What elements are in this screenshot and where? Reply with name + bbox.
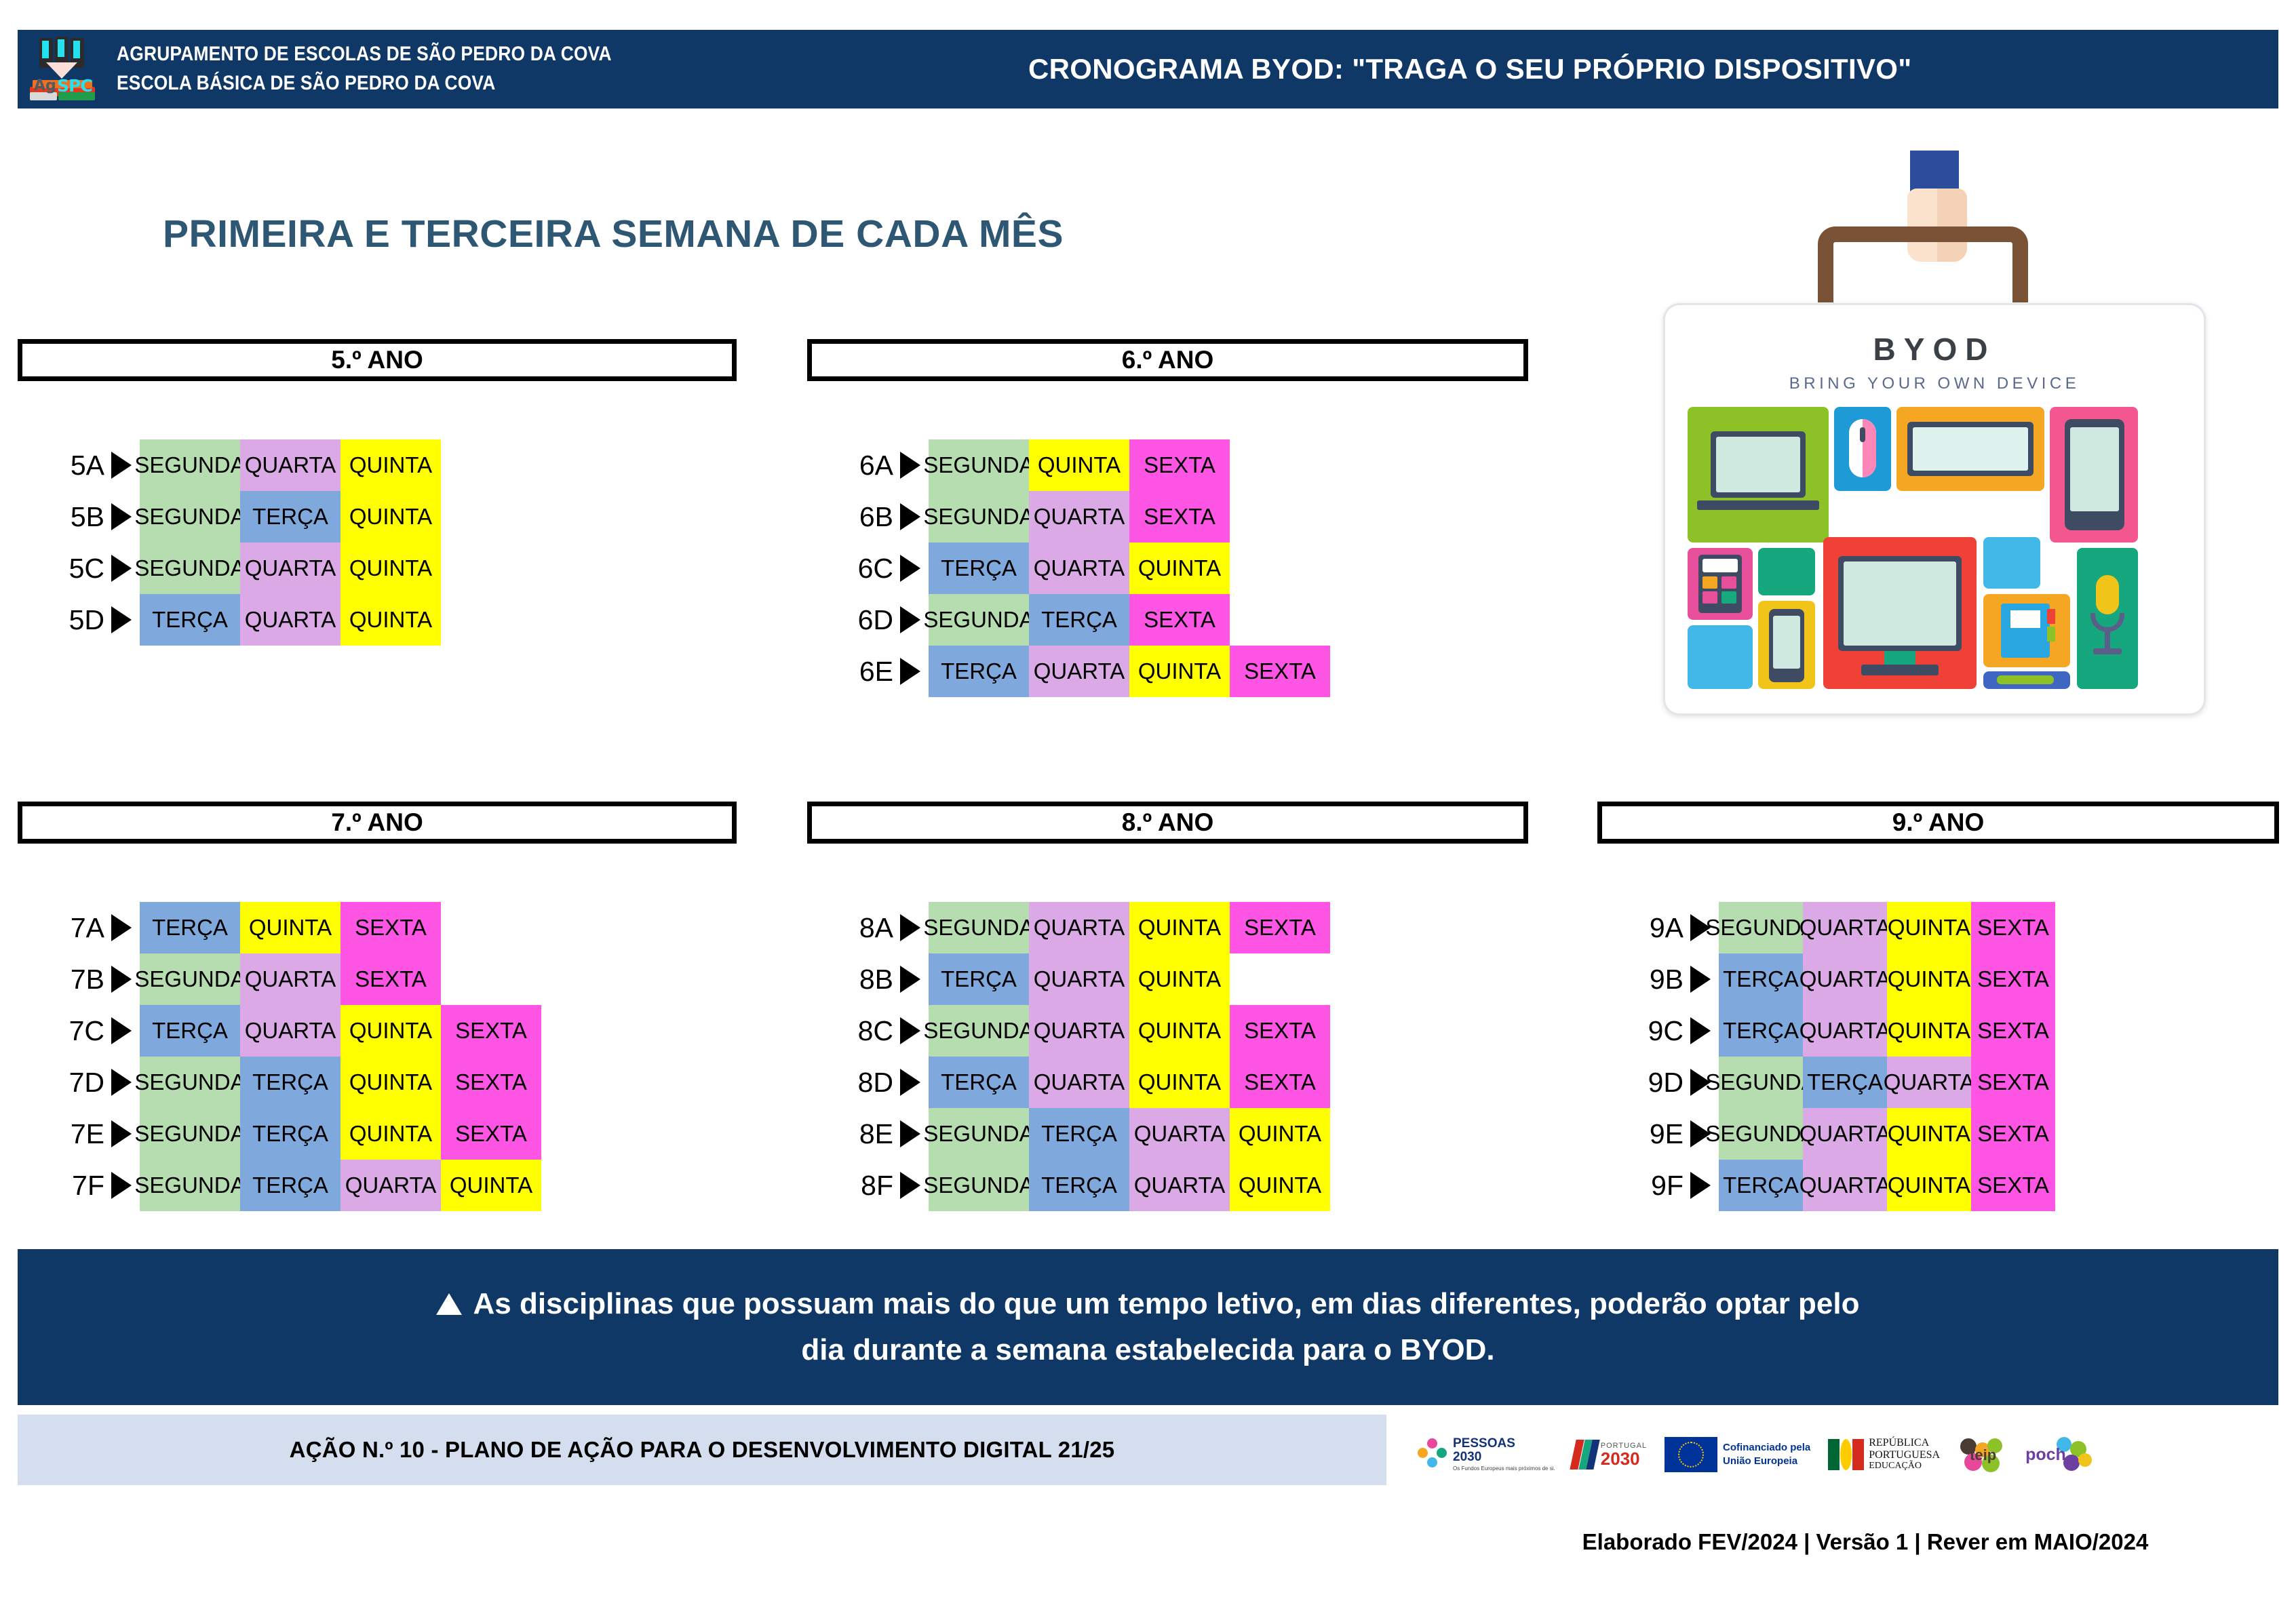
teal-accent-tile bbox=[1758, 548, 1815, 595]
right-triangle-icon bbox=[900, 966, 920, 993]
right-triangle-icon bbox=[900, 1172, 920, 1199]
notebook-tile bbox=[1983, 594, 2070, 667]
day-cells: TERÇAQUARTAQUINTA bbox=[929, 953, 1330, 1005]
microphone-tile bbox=[2077, 548, 2138, 689]
table-row: 8FSEGUNDATERÇAQUARTAQUINTA bbox=[823, 1160, 1330, 1211]
day-cell-sexta: SEXTA bbox=[1971, 1057, 2055, 1108]
day-cell-terca: TERÇA bbox=[1029, 1108, 1129, 1160]
version-line: Elaborado FEV/2024 | Versão 1 | Rever em… bbox=[1452, 1529, 2279, 1555]
day-cells: SEGUNDATERÇAQUINTASEXTA bbox=[140, 1108, 541, 1160]
funding-logos: PESSOAS 2030 Os Fundos Europeus mais pró… bbox=[1418, 1419, 2279, 1490]
day-cells: SEGUNDAQUINTASEXTA bbox=[929, 439, 1230, 491]
class-label: 7C bbox=[34, 1015, 107, 1047]
day-cell-sexta: SEXTA bbox=[340, 953, 441, 1005]
day-cell-terca: TERÇA bbox=[1719, 953, 1803, 1005]
day-cell-quarta: QUARTA bbox=[1029, 491, 1129, 543]
class-label: 7D bbox=[34, 1067, 107, 1099]
school-name: ESCOLA BÁSICA DE SÃO PEDRO DA COVA bbox=[117, 69, 612, 98]
day-cell-terca: TERÇA bbox=[240, 1057, 340, 1108]
right-triangle-icon bbox=[111, 1017, 132, 1044]
day-cell-quarta: QUARTA bbox=[1029, 902, 1129, 953]
day-cells: TERÇAQUARTAQUINTASEXTA bbox=[929, 1057, 1330, 1108]
table-row: 8BTERÇAQUARTAQUINTA bbox=[823, 953, 1330, 1005]
day-cell-segunda: SEGUNDA bbox=[929, 1160, 1029, 1211]
sleeve-shape bbox=[1910, 151, 1959, 193]
logo-teip: teip bbox=[1958, 1429, 2006, 1480]
logo-line-2: 2030 bbox=[1453, 1451, 1555, 1464]
right-triangle-icon bbox=[111, 606, 132, 633]
day-cell-sexta: SEXTA bbox=[1971, 902, 2055, 953]
byod-illustration: BYOD BRING YOUR OWN DEVICE bbox=[1636, 151, 2233, 717]
up-triangle-icon bbox=[436, 1293, 462, 1315]
day-cells: SEGUNDAQUARTASEXTA bbox=[140, 953, 441, 1005]
day-cell-sexta: SEXTA bbox=[441, 1005, 541, 1057]
right-triangle-icon bbox=[1690, 966, 1711, 993]
day-cell-sexta: SEXTA bbox=[441, 1057, 541, 1108]
class-label: 8B bbox=[823, 964, 896, 995]
day-cell-quarta: QUARTA bbox=[1803, 1005, 1887, 1057]
day-cell-segunda: SEGUNDA bbox=[1719, 1057, 1803, 1108]
schedule-table-9ano: 9ASEGUNDAQUARTAQUINTASEXTA9BTERÇAQUARTAQ… bbox=[1613, 902, 2055, 1211]
day-cells: TERÇAQUARTAQUINTASEXTA bbox=[1719, 953, 2055, 1005]
briefcase-handle-icon bbox=[1818, 226, 2028, 302]
table-row: 7BSEGUNDAQUARTASEXTA bbox=[34, 953, 541, 1005]
blue-accent-tile bbox=[1688, 625, 1753, 689]
day-cell-terca: TERÇA bbox=[140, 902, 240, 953]
note-line-2: dia durante a semana estabelecida para o… bbox=[801, 1327, 1494, 1373]
class-label: 6D bbox=[823, 604, 896, 636]
day-cells: TERÇAQUARTAQUINTASEXTA bbox=[1719, 1005, 2055, 1057]
day-cell-quarta: QUARTA bbox=[240, 439, 340, 491]
day-cells: TERÇAQUARTAQUINTASEXTA bbox=[140, 1005, 541, 1057]
byod-subtitle: BRING YOUR OWN DEVICE bbox=[1789, 374, 2080, 393]
right-triangle-icon bbox=[1690, 1172, 1711, 1199]
day-cell-segunda: SEGUNDA bbox=[929, 594, 1029, 646]
byod-title: BYOD bbox=[1873, 331, 1996, 368]
schedule-table-7ano: 7ATERÇAQUINTASEXTA7BSEGUNDAQUARTASEXTA7C… bbox=[34, 902, 541, 1211]
device-icon-grid bbox=[1684, 404, 2185, 689]
table-row: 9FTERÇAQUARTAQUINTASEXTA bbox=[1613, 1160, 2055, 1211]
day-cell-segunda: SEGUNDA bbox=[929, 1108, 1029, 1160]
day-cell-segunda: SEGUNDA bbox=[140, 491, 240, 543]
day-cell-segunda: SEGUNDA bbox=[1719, 1108, 1803, 1160]
day-cell-quinta: QUINTA bbox=[1129, 1005, 1230, 1057]
heading-label: 5.º ANO bbox=[331, 346, 423, 374]
day-cell-terca: TERÇA bbox=[140, 594, 240, 646]
day-cells: SEGUNDAQUARTAQUINTA bbox=[140, 439, 441, 491]
class-label: 9F bbox=[1613, 1170, 1686, 1202]
table-row: 9ESEGUNDAQUARTAQUINTASEXTA bbox=[1613, 1108, 2055, 1160]
day-cell-terca: TERÇA bbox=[240, 1160, 340, 1211]
school-names: AGRUPAMENTO DE ESCOLAS DE SÃO PEDRO DA C… bbox=[117, 40, 679, 98]
day-cell-segunda: SEGUNDA bbox=[140, 1057, 240, 1108]
day-cell-quinta: QUINTA bbox=[1887, 953, 1971, 1005]
logo-line-1: PESSOAS bbox=[1453, 1437, 1555, 1451]
day-cell-quarta: QUARTA bbox=[340, 1160, 441, 1211]
day-cell-quarta: QUARTA bbox=[1029, 543, 1129, 594]
day-cell-terca: TERÇA bbox=[1803, 1057, 1887, 1108]
day-cell-quarta: QUARTA bbox=[1129, 1160, 1230, 1211]
table-row: 7DSEGUNDATERÇAQUINTASEXTA bbox=[34, 1057, 541, 1108]
right-triangle-icon bbox=[1690, 1017, 1711, 1044]
day-cell-sexta: SEXTA bbox=[1230, 1057, 1330, 1108]
day-cells: TERÇAQUARTAQUINTA bbox=[140, 594, 441, 646]
right-triangle-icon bbox=[111, 503, 132, 530]
day-cell-terca: TERÇA bbox=[240, 1108, 340, 1160]
table-row: 8ESEGUNDATERÇAQUARTAQUINTA bbox=[823, 1108, 1330, 1160]
day-cell-sexta: SEXTA bbox=[1129, 491, 1230, 543]
right-triangle-icon bbox=[111, 1069, 132, 1096]
day-cell-quinta: QUINTA bbox=[340, 594, 441, 646]
day-cell-quinta: QUINTA bbox=[340, 439, 441, 491]
logo-republica-portuguesa-educacao: REPÚBLICA PORTUGUESA EDUCAÇÃO bbox=[1828, 1429, 1940, 1480]
right-triangle-icon bbox=[900, 1069, 920, 1096]
heading-label: 9.º ANO bbox=[1892, 808, 1985, 837]
logo-line-3: EDUCAÇÃO bbox=[1869, 1461, 1940, 1471]
mouse-tile bbox=[1834, 407, 1891, 491]
class-label: 6E bbox=[823, 656, 896, 688]
right-triangle-icon bbox=[900, 1017, 920, 1044]
heading-label: 7.º ANO bbox=[331, 808, 423, 837]
right-triangle-icon bbox=[900, 914, 920, 941]
right-triangle-icon bbox=[111, 1120, 132, 1147]
day-cell-quinta: QUINTA bbox=[1129, 646, 1230, 697]
heading-label: 6.º ANO bbox=[1122, 346, 1214, 374]
class-label: 7A bbox=[34, 912, 107, 944]
day-cells: SEGUNDATERÇAQUARTAQUINTA bbox=[929, 1108, 1330, 1160]
table-row: 7CTERÇAQUARTAQUINTASEXTA bbox=[34, 1005, 541, 1057]
page-title: PRIMEIRA E TERCEIRA SEMANA DE CADA MÊS bbox=[163, 212, 1064, 256]
table-row: 6DSEGUNDATERÇASEXTA bbox=[823, 594, 1330, 646]
day-cell-quinta: QUINTA bbox=[1230, 1160, 1330, 1211]
day-cell-quinta: QUINTA bbox=[1887, 902, 1971, 953]
day-cell-terca: TERÇA bbox=[929, 953, 1029, 1005]
section-heading-6ano: 6.º ANO bbox=[807, 339, 1528, 381]
action-bar: AÇÃO N.º 10 - PLANO DE AÇÃO PARA O DESEN… bbox=[18, 1415, 1386, 1485]
day-cells: TERÇAQUARTAQUINTASEXTA bbox=[929, 646, 1330, 697]
logo-caption: Os Fundos Europeus mais próximos de si. bbox=[1453, 1465, 1555, 1472]
table-row: 8DTERÇAQUARTAQUINTASEXTA bbox=[823, 1057, 1330, 1108]
day-cells: SEGUNDAQUARTASEXTA bbox=[929, 491, 1230, 543]
class-label: 7B bbox=[34, 964, 107, 995]
logo-line-2: PORTUGUESA bbox=[1869, 1449, 1940, 1461]
school-group-name: AGRUPAMENTO DE ESCOLAS DE SÃO PEDRO DA C… bbox=[117, 40, 612, 69]
right-triangle-icon bbox=[900, 555, 920, 582]
right-triangle-icon bbox=[111, 452, 132, 479]
table-row: 7ESEGUNDATERÇAQUINTASEXTA bbox=[34, 1108, 541, 1160]
day-cell-sexta: SEXTA bbox=[1971, 1160, 2055, 1211]
day-cell-segunda: SEGUNDA bbox=[929, 1005, 1029, 1057]
day-cell-quarta: QUARTA bbox=[1803, 1160, 1887, 1211]
day-cell-terca: TERÇA bbox=[240, 491, 340, 543]
table-row: 7ATERÇAQUINTASEXTA bbox=[34, 902, 541, 953]
day-cell-sexta: SEXTA bbox=[340, 902, 441, 953]
note-banner: As disciplinas que possuam mais do que u… bbox=[18, 1249, 2278, 1405]
day-cell-quinta: QUINTA bbox=[1129, 1057, 1230, 1108]
day-cell-sexta: SEXTA bbox=[1230, 1005, 1330, 1057]
table-row: 5ASEGUNDAQUARTAQUINTA bbox=[34, 439, 441, 491]
day-cell-terca: TERÇA bbox=[1029, 1160, 1129, 1211]
day-cell-quinta: QUINTA bbox=[1230, 1108, 1330, 1160]
section-heading-7ano: 7.º ANO bbox=[18, 802, 737, 844]
day-cell-segunda: SEGUNDA bbox=[140, 953, 240, 1005]
logo-poch: poch bbox=[2024, 1429, 2095, 1480]
table-row: 8ASEGUNDAQUARTAQUINTASEXTA bbox=[823, 902, 1330, 953]
day-cells: SEGUNDAQUARTAQUINTASEXTA bbox=[1719, 902, 2055, 953]
day-cell-terca: TERÇA bbox=[140, 1005, 240, 1057]
day-cells: TERÇAQUARTAQUINTA bbox=[929, 543, 1230, 594]
class-label: 8D bbox=[823, 1067, 896, 1099]
day-cell-quinta: QUINTA bbox=[240, 902, 340, 953]
logo-line-1: Cofinanciado pela bbox=[1723, 1442, 1810, 1453]
table-row: 9ASEGUNDAQUARTAQUINTASEXTA bbox=[1613, 902, 2055, 953]
laptop-tile bbox=[1688, 407, 1829, 543]
header-title: CRONOGRAMA BYOD: "TRAGA O SEU PRÓPRIO DI… bbox=[1028, 53, 1911, 85]
day-cell-quinta: QUINTA bbox=[441, 1160, 541, 1211]
day-cell-segunda: SEGUNDA bbox=[140, 1160, 240, 1211]
day-cells: SEGUNDAQUARTAQUINTASEXTA bbox=[1719, 1108, 2055, 1160]
right-triangle-icon bbox=[900, 1120, 920, 1147]
class-label: 9C bbox=[1613, 1015, 1686, 1047]
day-cell-quarta: QUARTA bbox=[1887, 1057, 1971, 1108]
day-cell-quinta: QUINTA bbox=[1129, 902, 1230, 953]
day-cell-sexta: SEXTA bbox=[1971, 1108, 2055, 1160]
logo-portugal-2030: PORTUGAL 2030 bbox=[1573, 1429, 1647, 1480]
table-row: 9DSEGUNDATERÇAQUARTASEXTA bbox=[1613, 1057, 2055, 1108]
day-cell-quarta: QUARTA bbox=[240, 953, 340, 1005]
day-cell-terca: TERÇA bbox=[929, 543, 1029, 594]
class-label: 9D bbox=[1613, 1067, 1686, 1099]
day-cell-empty bbox=[1230, 953, 1330, 1005]
class-label: 7E bbox=[34, 1118, 107, 1150]
right-triangle-icon bbox=[111, 914, 132, 941]
table-row: 6ASEGUNDAQUINTASEXTA bbox=[823, 439, 1330, 491]
day-cell-quinta: QUINTA bbox=[1129, 953, 1230, 1005]
table-row: 5DTERÇAQUARTAQUINTA bbox=[34, 594, 441, 646]
right-triangle-icon bbox=[111, 1172, 132, 1199]
day-cells: SEGUNDAQUARTAQUINTASEXTA bbox=[929, 1005, 1330, 1057]
class-label: 5C bbox=[34, 553, 107, 585]
day-cell-sexta: SEXTA bbox=[1129, 439, 1230, 491]
day-cells: SEGUNDAQUARTAQUINTASEXTA bbox=[929, 902, 1330, 953]
class-label: 7F bbox=[34, 1170, 107, 1202]
table-row: 9CTERÇAQUARTAQUINTASEXTA bbox=[1613, 1005, 2055, 1057]
table-row: 6BSEGUNDAQUARTASEXTA bbox=[823, 491, 1330, 543]
table-row: 6CTERÇAQUARTAQUINTA bbox=[823, 543, 1330, 594]
day-cell-quinta: QUINTA bbox=[340, 1005, 441, 1057]
day-cell-segunda: SEGUNDA bbox=[929, 491, 1029, 543]
byod-card: BYOD BRING YOUR OWN DEVICE bbox=[1663, 303, 2206, 715]
day-cell-terca: TERÇA bbox=[929, 1057, 1029, 1108]
right-triangle-icon bbox=[900, 503, 920, 530]
sky-accent-tile bbox=[1983, 537, 2040, 589]
day-cell-sexta: SEXTA bbox=[441, 1108, 541, 1160]
schedule-table-6ano: 6ASEGUNDAQUINTASEXTA6BSEGUNDAQUARTASEXTA… bbox=[823, 439, 1330, 697]
right-triangle-icon bbox=[900, 452, 920, 479]
logo-pessoas-2030: PESSOAS 2030 Os Fundos Europeus mais pró… bbox=[1418, 1429, 1555, 1480]
day-cell-quinta: QUINTA bbox=[1029, 439, 1129, 491]
day-cell-terca: TERÇA bbox=[1719, 1160, 1803, 1211]
logo-line-2: União Europeia bbox=[1723, 1456, 1810, 1467]
tablet-tile bbox=[2050, 407, 2138, 543]
logo-line-1: poch bbox=[2025, 1445, 2066, 1465]
day-cells: SEGUNDATERÇAQUINTASEXTA bbox=[140, 1057, 541, 1108]
class-label: 5B bbox=[34, 501, 107, 533]
day-cell-quinta: QUINTA bbox=[1887, 1160, 1971, 1211]
day-cell-terca: TERÇA bbox=[1029, 594, 1129, 646]
action-label: AÇÃO N.º 10 - PLANO DE AÇÃO PARA O DESEN… bbox=[290, 1437, 1115, 1463]
day-cell-sexta: SEXTA bbox=[1971, 953, 2055, 1005]
phone-tile bbox=[1758, 601, 1815, 689]
day-cell-sexta: SEXTA bbox=[1971, 1005, 2055, 1057]
day-cells: SEGUNDATERÇAQUINTA bbox=[140, 491, 441, 543]
day-cell-quarta: QUARTA bbox=[1029, 646, 1129, 697]
class-label: 6B bbox=[823, 501, 896, 533]
logo-line-2: 2030 bbox=[1601, 1450, 1647, 1467]
class-label: 5D bbox=[34, 604, 107, 636]
class-label: 6C bbox=[823, 553, 896, 585]
school-logo: Ag SPC bbox=[27, 34, 100, 104]
day-cell-sexta: SEXTA bbox=[1129, 594, 1230, 646]
day-cell-quarta: QUARTA bbox=[1803, 953, 1887, 1005]
heading-label: 8.º ANO bbox=[1122, 808, 1214, 837]
day-cell-quarta: QUARTA bbox=[240, 594, 340, 646]
day-cell-segunda: SEGUNDA bbox=[929, 902, 1029, 953]
day-cells: TERÇAQUARTAQUINTASEXTA bbox=[1719, 1160, 2055, 1211]
table-row: 9BTERÇAQUARTAQUINTASEXTA bbox=[1613, 953, 2055, 1005]
class-label: 8A bbox=[823, 912, 896, 944]
table-row: 5CSEGUNDAQUARTAQUINTA bbox=[34, 543, 441, 594]
schedule-table-8ano: 8ASEGUNDAQUARTAQUINTASEXTA8BTERÇAQUARTAQ… bbox=[823, 902, 1330, 1211]
day-cell-quarta: QUARTA bbox=[1129, 1108, 1230, 1160]
monitor-tile bbox=[1823, 537, 1977, 689]
day-cell-segunda: SEGUNDA bbox=[929, 439, 1029, 491]
day-cell-quinta: QUINTA bbox=[340, 491, 441, 543]
right-triangle-icon bbox=[900, 606, 920, 633]
class-label: 9A bbox=[1613, 912, 1686, 944]
logo-cofinanciado-ue: Cofinanciado pela União Europeia bbox=[1665, 1429, 1810, 1480]
day-cell-quinta: QUINTA bbox=[1129, 543, 1230, 594]
day-cell-quinta: QUINTA bbox=[340, 543, 441, 594]
day-cell-terca: TERÇA bbox=[929, 646, 1029, 697]
day-cell-quarta: QUARTA bbox=[1803, 1108, 1887, 1160]
calculator-tile bbox=[1688, 548, 1753, 620]
day-cell-quinta: QUINTA bbox=[340, 1108, 441, 1160]
day-cell-segunda: SEGUNDA bbox=[140, 439, 240, 491]
section-heading-8ano: 8.º ANO bbox=[807, 802, 1528, 844]
right-triangle-icon bbox=[111, 966, 132, 993]
day-cell-quinta: QUINTA bbox=[340, 1057, 441, 1108]
class-label: 8C bbox=[823, 1015, 896, 1047]
day-cells: SEGUNDATERÇAQUARTASEXTA bbox=[1719, 1057, 2055, 1108]
day-cell-segunda: SEGUNDA bbox=[140, 1108, 240, 1160]
day-cell-quarta: QUARTA bbox=[1029, 1057, 1129, 1108]
note-line-1: As disciplinas que possuam mais do que u… bbox=[473, 1281, 1859, 1327]
day-cells: SEGUNDATERÇAQUARTAQUINTA bbox=[929, 1160, 1330, 1211]
class-label: 9E bbox=[1613, 1118, 1686, 1150]
schedule-table-5ano: 5ASEGUNDAQUARTAQUINTA5BSEGUNDATERÇAQUINT… bbox=[34, 439, 441, 646]
day-cell-quarta: QUARTA bbox=[240, 1005, 340, 1057]
day-cell-quinta: QUINTA bbox=[1887, 1005, 1971, 1057]
day-cell-sexta: SEXTA bbox=[1230, 902, 1330, 953]
class-label: 5A bbox=[34, 450, 107, 481]
pen-tile bbox=[1983, 671, 2070, 689]
logo-line-1: teip bbox=[1970, 1446, 1996, 1464]
day-cells: SEGUNDATERÇASEXTA bbox=[929, 594, 1230, 646]
day-cell-sexta: SEXTA bbox=[1230, 646, 1330, 697]
day-cell-quarta: QUARTA bbox=[1029, 953, 1129, 1005]
day-cell-segunda: SEGUNDA bbox=[1719, 902, 1803, 953]
class-label: 8F bbox=[823, 1170, 896, 1202]
day-cell-quarta: QUARTA bbox=[1029, 1005, 1129, 1057]
table-row: 5BSEGUNDATERÇAQUINTA bbox=[34, 491, 441, 543]
class-label: 6A bbox=[823, 450, 896, 481]
keyboard-tile bbox=[1896, 407, 2044, 491]
class-label: 9B bbox=[1613, 964, 1686, 995]
day-cell-segunda: SEGUNDA bbox=[140, 543, 240, 594]
class-label: 8E bbox=[823, 1118, 896, 1150]
table-row: 6ETERÇAQUARTAQUINTASEXTA bbox=[823, 646, 1330, 697]
section-heading-9ano: 9.º ANO bbox=[1597, 802, 2279, 844]
logo-ag-text: Ag bbox=[34, 77, 56, 94]
logo-line-1: REPÚBLICA bbox=[1869, 1437, 1940, 1449]
day-cells: SEGUNDAQUARTAQUINTA bbox=[140, 543, 441, 594]
day-cell-quarta: QUARTA bbox=[240, 543, 340, 594]
section-heading-5ano: 5.º ANO bbox=[18, 339, 737, 381]
day-cell-quinta: QUINTA bbox=[1887, 1108, 1971, 1160]
day-cells: SEGUNDATERÇAQUARTAQUINTA bbox=[140, 1160, 541, 1211]
page-header: Ag SPC AGRUPAMENTO DE ESCOLAS DE SÃO PED… bbox=[18, 30, 2278, 109]
right-triangle-icon bbox=[900, 658, 920, 685]
day-cell-quarta: QUARTA bbox=[1803, 902, 1887, 953]
logo-spc-text: SPC bbox=[57, 76, 92, 96]
day-cells: TERÇAQUINTASEXTA bbox=[140, 902, 441, 953]
table-row: 8CSEGUNDAQUARTAQUINTASEXTA bbox=[823, 1005, 1330, 1057]
right-triangle-icon bbox=[111, 555, 132, 582]
table-row: 7FSEGUNDATERÇAQUARTAQUINTA bbox=[34, 1160, 541, 1211]
day-cell-terca: TERÇA bbox=[1719, 1005, 1803, 1057]
